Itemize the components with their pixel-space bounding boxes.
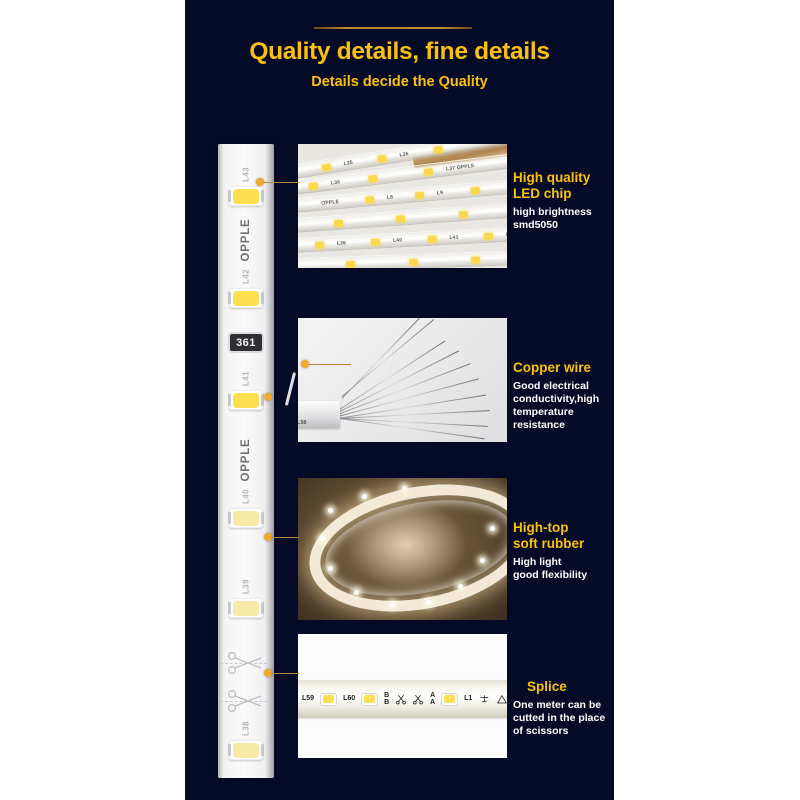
led-chip <box>233 743 259 758</box>
marking-led <box>442 694 457 705</box>
infographic-page: Quality details, fine details Details de… <box>0 0 800 800</box>
caption-led-chip: High quality LED chip high brightness sm… <box>513 170 613 232</box>
caption-soft-rubber: High-top soft rubber High light good fle… <box>513 520 613 582</box>
dark-content-panel: Quality details, fine details Details de… <box>185 0 614 800</box>
strip-segment-label-l40: L40 <box>242 489 251 504</box>
caption-body-line: High light <box>513 556 613 569</box>
strip-segment-label-l38: L38 <box>242 721 251 736</box>
lamp-icon <box>479 693 490 706</box>
strip-segment-label-l41: L41 <box>242 371 251 386</box>
caption-body: Good electrical conductivity,high temper… <box>513 380 613 432</box>
strip-segment-label-l42: L42 <box>242 269 251 284</box>
marking-prev-label: L59 <box>302 695 314 703</box>
splice-cut-point-photo: L59 L60 BB AA <box>298 634 507 758</box>
caption-heading: High quality LED chip <box>513 170 613 202</box>
caption-heading: Copper wire <box>513 360 613 376</box>
strip-brand-bottom: OPPLE <box>240 439 252 482</box>
strip-segment-label-l43: L43 <box>242 167 251 182</box>
marking-letters-a: AA <box>430 692 435 707</box>
page-subtitle: Details decide the Quality <box>185 74 614 90</box>
strip-resistor-361: 361 <box>230 334 262 351</box>
leader-dot-strip-l41 <box>264 393 272 401</box>
caption-heading-line: Copper wire <box>513 360 613 376</box>
copper-wire-callout-stub <box>285 372 296 406</box>
caption-body-line: temperature <box>513 406 613 419</box>
caption-heading: Splice <box>513 679 613 695</box>
warning-triangle-icon <box>497 693 507 706</box>
connector-label: L58 <box>298 420 306 426</box>
scissors-icon <box>413 693 423 706</box>
marking-label-l1: L1 <box>464 695 472 703</box>
caption-body: One meter can be cutted in the place of … <box>513 699 613 738</box>
caption-heading-line: High quality <box>513 170 613 186</box>
wire-connector-block: L58 <box>298 401 340 428</box>
scissors-icon <box>227 651 265 675</box>
strip-led-l39 <box>229 598 263 618</box>
caption-heading-line: soft rubber <box>513 536 613 552</box>
caption-body-line: cutted in the place <box>513 712 613 725</box>
marking-led <box>362 694 377 705</box>
leader-line-soft-rubber <box>271 537 299 538</box>
strip-led-l38 <box>229 740 263 760</box>
caption-body-line: of scissors <box>513 725 613 738</box>
strip-segment-label-l39: L39 <box>242 579 251 594</box>
header-divider-rule <box>314 27 472 29</box>
caption-body-line: Good electrical <box>513 380 613 393</box>
caption-body-line: good flexibility <box>513 569 613 582</box>
leader-dot-copper-wire <box>301 360 309 368</box>
caption-heading: High-top soft rubber <box>513 520 613 552</box>
led-chip <box>233 189 259 204</box>
caption-heading-line: LED chip <box>513 186 613 202</box>
caption-body: High light good flexibility <box>513 556 613 582</box>
leader-line-led-chip <box>263 182 299 183</box>
glowing-bent-strip-photo <box>298 478 507 620</box>
led-strip-rolls-photo: L35 L36 L36 L37 OPPLE OPPLE L8 L9 <box>298 144 507 268</box>
page-title: Quality details, fine details <box>185 38 614 66</box>
leader-line-splice <box>271 673 299 674</box>
marking-led <box>321 694 336 705</box>
led-chip <box>233 393 259 408</box>
caption-heading-line: High-top <box>513 520 613 536</box>
scissors-icon <box>227 689 265 713</box>
caption-heading-line: Splice <box>527 679 613 695</box>
led-chip <box>233 601 259 616</box>
bent-light-strip-loop <box>298 478 507 620</box>
caption-body-line: smd5050 <box>513 219 613 232</box>
marking-letters-b: BB <box>384 692 389 707</box>
leader-line-copper-wire <box>309 364 351 365</box>
splice-markings-row: L59 L60 BB AA <box>298 686 507 712</box>
strip-led-l42 <box>229 288 263 308</box>
caption-body-line: high brightness <box>513 206 613 219</box>
caption-body-line: One meter can be <box>513 699 613 712</box>
copper-wire-strands-photo: L58 <box>298 318 507 442</box>
warm-glow-highlight <box>445 354 493 400</box>
caption-copper-wire: Copper wire Good electrical conductivity… <box>513 360 613 432</box>
led-chip <box>233 511 259 526</box>
strip-coil-band <box>298 249 507 268</box>
caption-splice: Splice One meter can be cutted in the pl… <box>513 679 613 738</box>
caption-body-line: conductivity,high <box>513 393 613 406</box>
strip-led-l41 <box>229 390 263 410</box>
marking-label-l60: L60 <box>343 695 355 703</box>
caption-body-line: resistance <box>513 419 613 432</box>
strip-brand-top: OPPLE <box>240 219 252 262</box>
strip-led-l43 <box>229 186 263 206</box>
strip-led-l40 <box>229 508 263 528</box>
led-chip <box>233 291 259 306</box>
strip-cut-marker-2 <box>218 688 274 714</box>
caption-body: high brightness smd5050 <box>513 206 613 232</box>
led-strip-diagram: L43 OPPLE L42 361 L41 OPPLE L40 L39 <box>218 144 274 778</box>
scissors-icon <box>396 693 406 706</box>
